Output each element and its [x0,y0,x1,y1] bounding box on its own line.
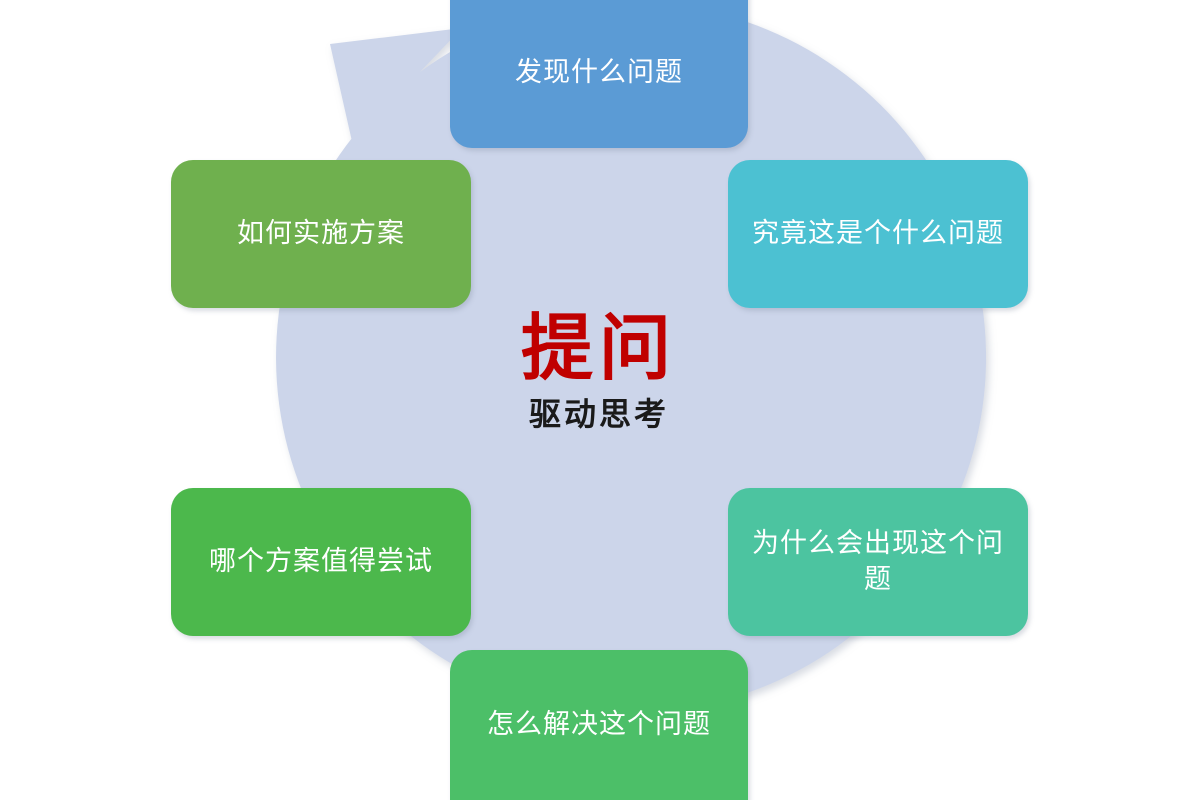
cycle-node-implement[interactable]: 如何实施方案 [171,160,471,308]
cycle-node-define[interactable]: 究竟这是个什么问题 [728,160,1028,308]
center-label-block: 提问 驱动思考 [399,312,799,430]
cycle-node-label: 哪个方案值得尝试 [209,544,433,580]
cycle-node-solve[interactable]: 怎么解决这个问题 [450,650,748,800]
cycle-node-discover[interactable]: 发现什么问题 [450,0,748,148]
cycle-node-label: 究竟这是个什么问题 [752,216,1004,252]
cycle-node-label: 如何实施方案 [237,216,405,252]
cycle-diagram: 发现什么问题 究竟这是个什么问题 为什么会出现这个问题 怎么解决这个问题 哪个方… [0,0,1198,800]
cycle-node-label: 怎么解决这个问题 [487,707,711,743]
center-subtitle: 驱动思考 [399,398,799,430]
cycle-node-label: 为什么会出现这个问题 [746,526,1010,597]
cycle-node-select[interactable]: 哪个方案值得尝试 [171,488,471,636]
cycle-node-cause[interactable]: 为什么会出现这个问题 [728,488,1028,636]
cycle-node-label: 发现什么问题 [515,55,683,91]
center-title: 提问 [399,312,799,384]
